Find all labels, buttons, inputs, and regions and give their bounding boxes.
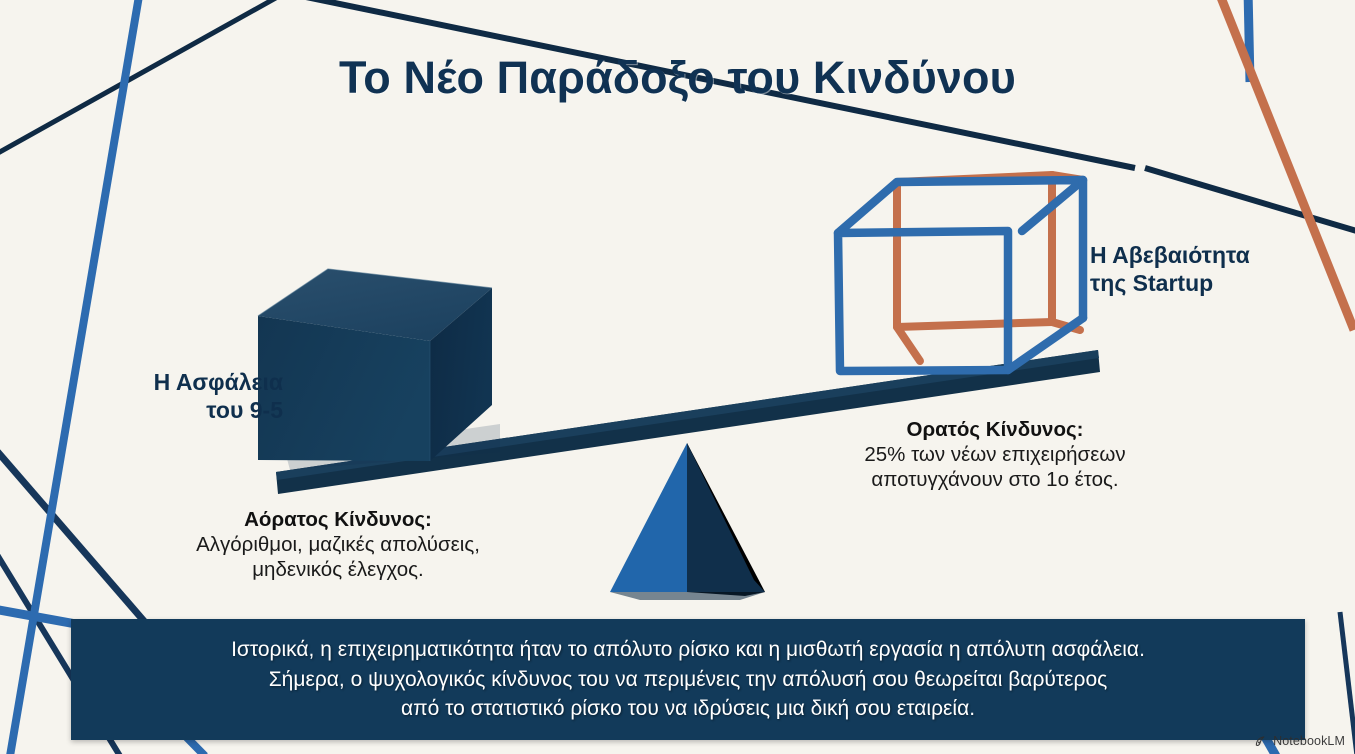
caption-invisible-risk-line2: μηδενικός έλεγχος. — [168, 557, 508, 582]
solid-cube-security — [258, 269, 500, 470]
notebooklm-watermark-label: NotebookLM — [1273, 734, 1345, 748]
wire-cube-outer-edges — [838, 180, 1083, 371]
caption-visible-risk-heading: Ορατός Κίνδυνος: — [805, 417, 1185, 442]
slide-canvas: Το Νέο Παράδοξο του Κινδύνου — [0, 0, 1355, 754]
label-startup: Η Αβεβαιότητα της Startup — [1090, 241, 1340, 297]
page-title: Το Νέο Παράδοξο του Κινδύνου — [0, 52, 1355, 104]
label-security: Η Ασφάλεια του 9-5 — [68, 368, 283, 424]
caption-invisible-risk-heading: Αόρατος Κίνδυνος: — [168, 507, 508, 532]
caption-invisible-risk: Αόρατος Κίνδυνος: Αλγόριθμοι, μαζικές απ… — [168, 507, 508, 582]
label-security-line1: Η Ασφάλεια — [68, 368, 283, 396]
footer-line-2: Σήμερα, ο ψυχολογικός κίνδυνος του να πε… — [91, 665, 1285, 695]
wire-cube-inner-edges — [897, 175, 1083, 361]
footer-line-1: Ιστορικά, η επιχειρηματικότητα ήταν το α… — [91, 635, 1285, 665]
footer-line-3: από το στατιστικό ρίσκο του να ιδρύσεις … — [91, 694, 1285, 724]
label-security-line2: του 9-5 — [68, 396, 283, 424]
bg-line-navy-4 — [0, 443, 150, 628]
wireframe-cube-startup — [838, 175, 1083, 371]
caption-visible-risk-line2: αποτυγχάνουν στο 1ο έτος. — [805, 467, 1185, 492]
footer-text: Ιστορικά, η επιχειρηματικότητα ήταν το α… — [71, 635, 1305, 724]
bg-line-navy-3 — [1145, 168, 1355, 232]
caption-visible-risk: Ορατός Κίνδυνος: 25% των νέων επιχειρήσε… — [805, 417, 1185, 492]
caption-visible-risk-line1: 25% των νέων επιχειρήσεων — [805, 442, 1185, 467]
notebooklm-icon — [1254, 734, 1268, 748]
label-startup-line1: Η Αβεβαιότητα — [1090, 241, 1340, 269]
caption-invisible-risk-line1: Αλγόριθμοι, μαζικές απολύσεις, — [168, 532, 508, 557]
footer-banner: Ιστορικά, η επιχειρηματικότητα ήταν το α… — [71, 619, 1305, 740]
bg-line-navy-6 — [1340, 612, 1355, 754]
notebooklm-watermark: NotebookLM — [1254, 734, 1345, 748]
pyramid-fulcrum — [610, 443, 765, 600]
label-startup-line2: της Startup — [1090, 269, 1340, 297]
